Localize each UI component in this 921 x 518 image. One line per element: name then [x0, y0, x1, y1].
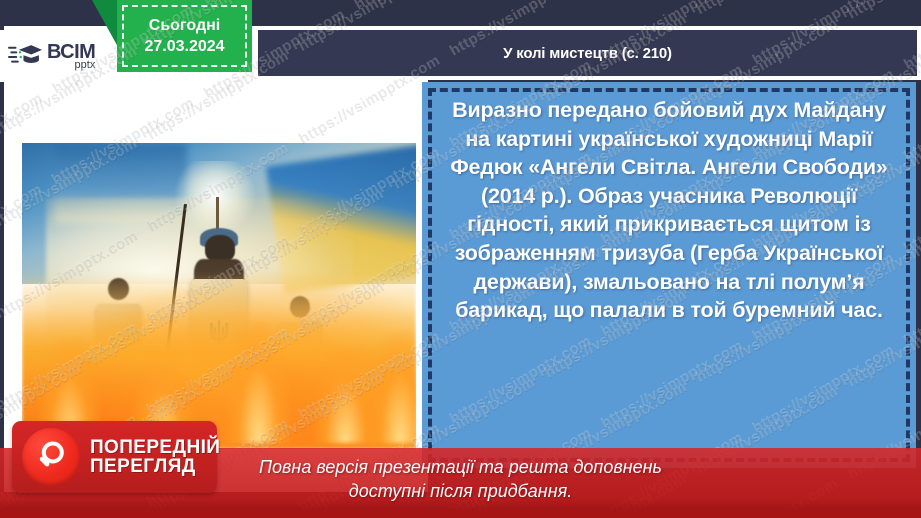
preview-badge: ПОПЕРЕДНІЙ ПЕРЕГЛЯД — [12, 421, 217, 493]
header-bar: У колі мистецтв (с. 210) — [258, 30, 917, 76]
content-text-panel: Виразно передано бойовий дух Майдану на … — [422, 82, 916, 468]
date-value: 27.03.2024 — [144, 38, 224, 56]
preview-badge-text: ПОПЕРЕДНІЙ ПЕРЕГЛЯД — [90, 438, 220, 477]
logo-wordmark: ВСІМ pptx — [47, 42, 95, 71]
header-frame: У колі мистецтв (с. 210) — [254, 26, 921, 80]
artwork-image — [22, 143, 416, 449]
page-title: У колі мистецтв (с. 210) — [503, 45, 672, 62]
date-badge: Сьогодні 27.03.2024 — [117, 0, 252, 72]
body-paragraph: Виразно передано бойовий дух Майдану на … — [444, 96, 894, 325]
preview-line-2: ПЕРЕГЛЯД — [90, 457, 220, 476]
page-left-strip — [0, 26, 4, 492]
slide-canvas: У колі мистецтв (с. 210) ВСІМ pptx Сього… — [0, 0, 921, 518]
graduation-cap-icon — [8, 41, 42, 71]
preview-line-1: ПОПЕРЕДНІЙ — [90, 438, 220, 457]
banner-line-1: Повна версія презентації та решта доповн… — [259, 457, 662, 479]
banner-line-2: доступні після придбання. — [349, 481, 572, 503]
date-label: Сьогодні — [149, 17, 220, 35]
magnifier-icon — [22, 428, 80, 486]
artwork-canvas — [22, 143, 416, 449]
brand-logo: ВСІМ pptx — [0, 30, 106, 82]
